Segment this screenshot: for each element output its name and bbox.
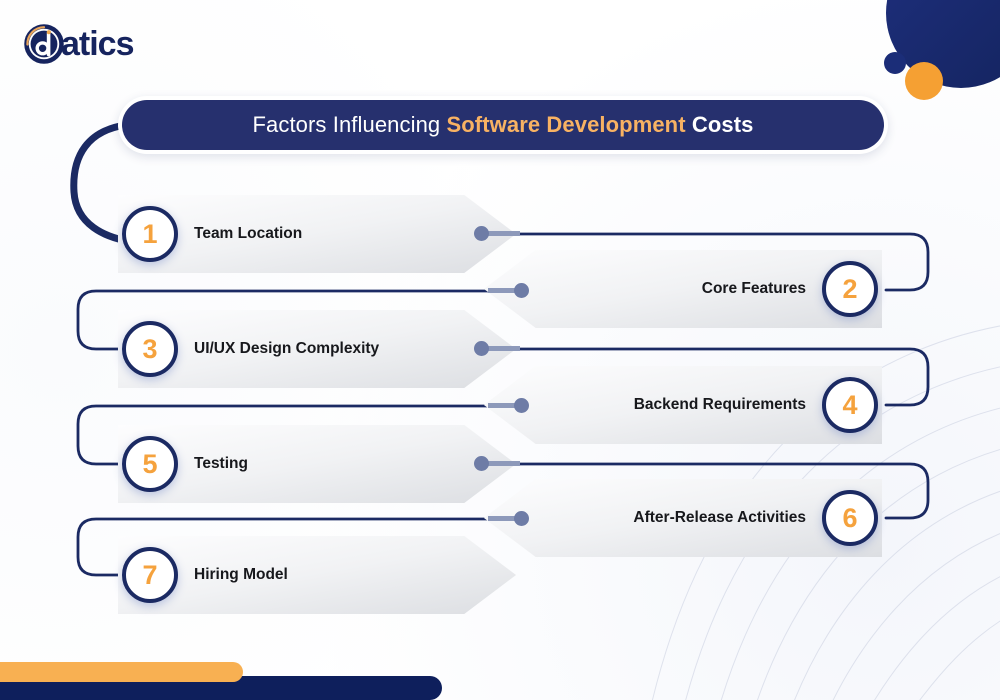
factor-label: UI/UX Design Complexity [194, 310, 379, 388]
title-part-regular: Factors Influencing [252, 112, 440, 137]
infographic-canvas: atics Factors Influencing Software Devel… [0, 0, 1000, 700]
footer-bar-orange [0, 662, 243, 682]
factor-label: Core Features [702, 250, 806, 328]
factor-label: After-Release Activities [633, 479, 806, 557]
connector-dot-6 [514, 511, 529, 526]
factor-label: Team Location [194, 195, 302, 273]
factor-row-6[interactable]: 6 After-Release Activities [484, 479, 882, 557]
connector-dot-2 [514, 283, 529, 298]
title-banner: Factors Influencing Software Development… [118, 96, 888, 154]
connector-dot-1 [474, 226, 489, 241]
factor-row-7[interactable]: 7 Hiring Model [118, 536, 516, 614]
page-title: Factors Influencing Software Development… [252, 112, 753, 138]
connector-dot-5 [474, 456, 489, 471]
factor-row-3[interactable]: 3 UI/UX Design Complexity [118, 310, 516, 388]
factor-number-badge: 2 [822, 261, 878, 317]
factor-row-5[interactable]: 5 Testing [118, 425, 516, 503]
factor-number-badge: 5 [122, 436, 178, 492]
title-part-bold: Costs [692, 112, 754, 137]
connector-dot-4 [514, 398, 529, 413]
factor-row-4[interactable]: 4 Backend Requirements [484, 366, 882, 444]
factor-number-badge: 6 [822, 490, 878, 546]
factor-label: Hiring Model [194, 536, 288, 614]
connector-dot-3 [474, 341, 489, 356]
factor-number-badge: 4 [822, 377, 878, 433]
factor-label: Backend Requirements [634, 366, 806, 444]
title-bar: Factors Influencing Software Development… [122, 100, 884, 150]
connector-stub-1 [486, 231, 520, 236]
factor-row-1[interactable]: 1 Team Location [118, 195, 516, 273]
title-part-accent: Software Development [446, 112, 685, 137]
factor-label: Testing [194, 425, 248, 503]
factor-number-badge: 3 [122, 321, 178, 377]
connector-stub-5 [486, 461, 520, 466]
connector-stub-3 [486, 346, 520, 351]
factor-number-badge: 1 [122, 206, 178, 262]
factor-number-badge: 7 [122, 547, 178, 603]
factor-row-2[interactable]: 2 Core Features [484, 250, 882, 328]
